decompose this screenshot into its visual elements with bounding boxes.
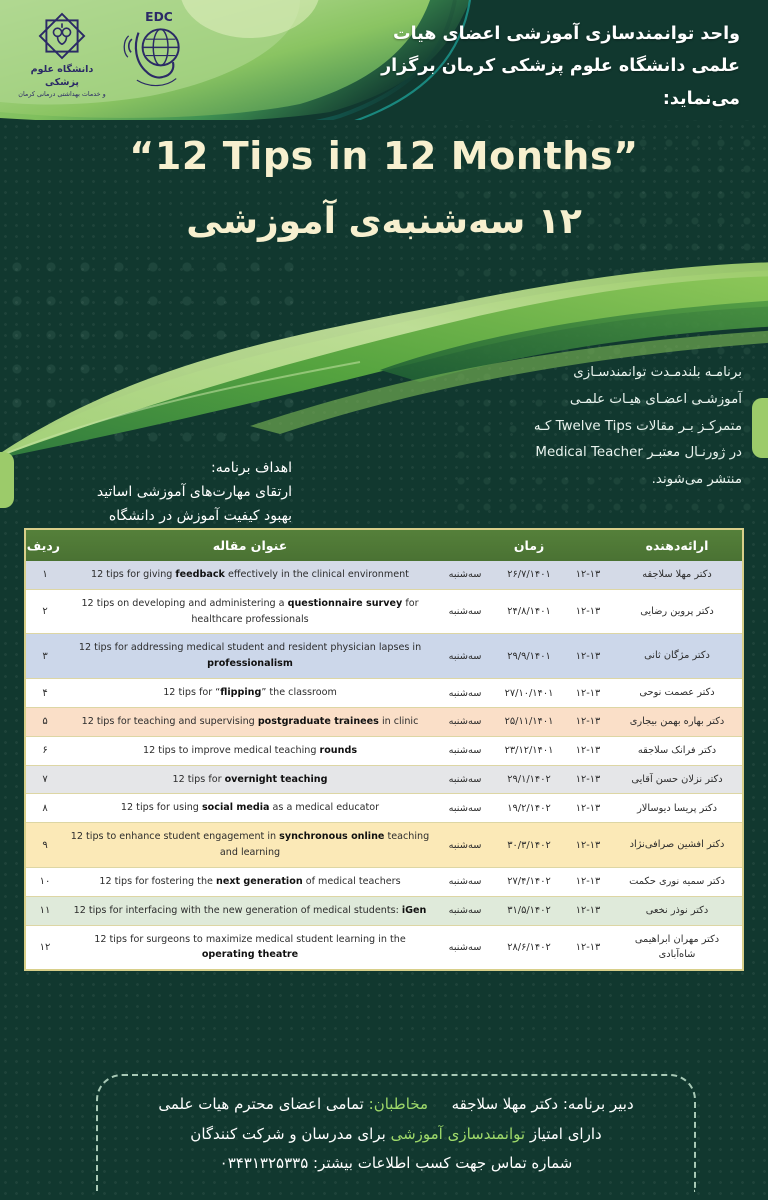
cell-date: ۲۹/۹/۱۴۰۱ (494, 634, 564, 679)
program-description: برنامـه بلندمـدت توانمندسـازی آموزشـی اع… (452, 360, 742, 494)
cell-article-title: 12 tips for fostering the next generatio… (64, 867, 436, 896)
cell-num: ۱ (26, 561, 64, 589)
headline-english: “12 Tips in 12 Months” (0, 136, 768, 178)
cell-article-title: 12 tips to improve medical teaching roun… (64, 736, 436, 765)
cell-time: ۱۲-۱۳ (564, 765, 612, 794)
table-header-row: ارائه‌دهنده زمان عنوان مقاله ردیف (26, 530, 742, 561)
cell-article-title: 12 tips on developing and administering … (64, 589, 436, 634)
cell-article-title: 12 tips for overnight teaching (64, 765, 436, 794)
article-title-keyword: questionnaire survey (288, 598, 403, 609)
university-name: دانشگاه علوم پزشکی (16, 64, 108, 90)
cell-time: ۱۲-۱۳ (564, 589, 612, 634)
cell-date: ۱۹/۲/۱۴۰۲ (494, 794, 564, 823)
header-num: ردیف (26, 530, 64, 561)
table-row: دکتر مژگان ثانی۱۲-۱۳۲۹/۹/۱۴۰۱سه‌شنبه12 t… (26, 634, 742, 679)
cell-presenter: دکتر نزلان حسن آقایی (612, 765, 742, 794)
cell-num: ۴ (26, 679, 64, 708)
cell-presenter: دکتر افشین صرافی‌نژاد (612, 823, 742, 868)
cell-num: ۹ (26, 823, 64, 868)
cell-day: سه‌شنبه (436, 794, 494, 823)
cell-article-title: 12 tips for “flipping” the classroom (64, 679, 436, 708)
cell-time: ۱۲-۱۳ (564, 707, 612, 736)
goals-item-2: بهبود کیفیت آموزش در دانشگاه (22, 504, 292, 528)
cell-num: ۵ (26, 707, 64, 736)
cell-time: ۱۲-۱۳ (564, 925, 612, 969)
table-row: دکتر بهاره بهمن بیجاری۱۲-۱۳۲۵/۱۱/۱۴۰۱سه‌… (26, 707, 742, 736)
credit-prefix: دارای امتیاز (530, 1125, 602, 1143)
cell-num: ۶ (26, 736, 64, 765)
description-line-4-a: در ژورنـال معتبـر (647, 445, 742, 460)
logo-group: EDC (16, 8, 196, 98)
cell-num: ۱۱ (26, 896, 64, 925)
description-line-3: متمرکـز بـر مقالات Twelve Tips کـه (452, 414, 742, 441)
article-title-keyword: flipping (220, 687, 261, 698)
article-title-keyword: rounds (319, 745, 357, 756)
cell-date: ۳۱/۵/۱۴۰۲ (494, 896, 564, 925)
cell-day: سه‌شنبه (436, 823, 494, 868)
cell-date: ۲۷/۴/۱۴۰۲ (494, 867, 564, 896)
description-line-3-a: متمرکـز بـر مقالات (636, 419, 742, 434)
cell-date: ۲۵/۱۱/۱۴۰۱ (494, 707, 564, 736)
cell-article-title: 12 tips for surgeons to maximize medical… (64, 925, 436, 969)
cell-day: سه‌شنبه (436, 679, 494, 708)
cell-date: ۲۹/۱/۱۴۰۲ (494, 765, 564, 794)
cell-date: ۲۷/۱۰/۱۴۰۱ (494, 679, 564, 708)
cell-num: ۷ (26, 765, 64, 794)
article-title-keyword: operating theatre (202, 949, 298, 960)
cell-day: سه‌شنبه (436, 765, 494, 794)
article-title-keyword: iGen (402, 905, 427, 916)
cell-time: ۱۲-۱۳ (564, 823, 612, 868)
cell-num: ۱۰ (26, 867, 64, 896)
schedule-table-container: ارائه‌دهنده زمان عنوان مقاله ردیف دکتر م… (24, 528, 744, 971)
edc-logo: EDC (122, 8, 196, 94)
audience-value: تمامی اعضای محترم هیات علمی (158, 1095, 364, 1113)
article-title-keyword: synchronous online (279, 831, 384, 842)
header-time (564, 530, 612, 561)
article-title-keyword: professionalism (207, 658, 293, 669)
cell-date: ۳۰/۳/۱۴۰۲ (494, 823, 564, 868)
cell-article-title: 12 tips for interfacing with the new gen… (64, 896, 436, 925)
cell-day: سه‌شنبه (436, 925, 494, 969)
table-row: دکتر افشین صرافی‌نژاد۱۲-۱۳۳۰/۳/۱۴۰۲سه‌شن… (26, 823, 742, 868)
poster-root: EDC (0, 0, 768, 1200)
side-tab-left (0, 452, 14, 508)
footer-line-credit: دارای امتیاز توانمندسازی آموزشی برای مدر… (116, 1120, 676, 1149)
cell-article-title: 12 tips to enhance student engagement in… (64, 823, 436, 868)
table-body: دکتر مهلا سلاجقه۱۲-۱۳۲۶/۷/۱۴۰۱سه‌شنبه12 … (26, 561, 742, 969)
headline-block: “12 Tips in 12 Months” ۱۲ سه‌شنبه‌ی آموز… (0, 136, 768, 243)
dot-texture-large-left (0, 250, 300, 450)
cell-presenter: دکتر نوذر نخعی (612, 896, 742, 925)
cell-num: ۳ (26, 634, 64, 679)
description-journal-name: Medical Teacher (535, 445, 643, 460)
footer-line-contact: شماره تماس جهت کسب اطلاعات بیشتر: ۰۳۴۳۱۳… (116, 1149, 676, 1178)
header-title: عنوان مقاله (64, 530, 436, 561)
description-line-3-c: کـه (534, 419, 551, 434)
description-line-1: برنامـه بلندمـدت توانمندسـازی (452, 360, 742, 387)
contact-number: ۰۳۴۳۱۳۲۵۳۳۵ (220, 1154, 309, 1172)
goals-title: اهداف برنامه: (22, 456, 292, 480)
credit-suffix: برای مدرسان و شرکت کنندگان (190, 1125, 386, 1143)
cell-time: ۱۲-۱۳ (564, 679, 612, 708)
header-line-2: علمی دانشگاه علوم پزشکی کرمان برگزار می‌… (320, 50, 740, 115)
cell-article-title: 12 tips for teaching and supervising pos… (64, 707, 436, 736)
article-title-keyword: postgraduate trainees (258, 716, 379, 727)
cell-date: ۲۸/۶/۱۴۰۲ (494, 925, 564, 969)
contact-label: شماره تماس جهت کسب اطلاعات بیشتر: (313, 1154, 572, 1172)
table-row: دکتر مهران ابراهیمی شاه‌آبادی۱۲-۱۳۲۸/۶/۱… (26, 925, 742, 969)
description-line-5: منتشر می‌شوند. (452, 467, 742, 494)
table-row: دکتر مهلا سلاجقه۱۲-۱۳۲۶/۷/۱۴۰۱سه‌شنبه12 … (26, 561, 742, 589)
table-row: دکتر نوذر نخعی۱۲-۱۳۳۱/۵/۱۴۰۲سه‌شنبه12 ti… (26, 896, 742, 925)
header-day (436, 530, 494, 561)
header-announcement: واحد توانمندسازی آموزشی اعضای هیات علمی … (320, 18, 740, 115)
cell-article-title: 12 tips for giving feedback effectively … (64, 561, 436, 589)
cell-presenter: دکتر عصمت نوحی (612, 679, 742, 708)
audience-label: مخاطبان: (369, 1095, 428, 1113)
cell-day: سه‌شنبه (436, 736, 494, 765)
cell-day: سه‌شنبه (436, 896, 494, 925)
description-line-2: آموزشـی اعضـای هیـات علمـی (452, 387, 742, 414)
header-line-1: واحد توانمندسازی آموزشی اعضای هیات (320, 18, 740, 50)
cell-day: سه‌شنبه (436, 589, 494, 634)
table-row: دکتر پریسا دیوسالار۱۲-۱۳۱۹/۲/۱۴۰۲سه‌شنبه… (26, 794, 742, 823)
description-line-4: در ژورنـال معتبـر Medical Teacher (452, 440, 742, 467)
cell-time: ۱۲-۱۳ (564, 736, 612, 765)
footer-info-box: دبیر برنامه: دکتر مهلا سلاجقه مخاطبان: ت… (96, 1074, 696, 1192)
program-goals: اهداف برنامه: ارتقای مهارت‌های آموزشی اس… (22, 456, 292, 528)
svg-text:EDC: EDC (145, 10, 173, 24)
cell-day: سه‌شنبه (436, 867, 494, 896)
cell-day: سه‌شنبه (436, 561, 494, 589)
schedule-table: ارائه‌دهنده زمان عنوان مقاله ردیف دکتر م… (26, 530, 742, 969)
cell-presenter: دکتر پریسا دیوسالار (612, 794, 742, 823)
cell-article-title: 12 tips for using social media as a medi… (64, 794, 436, 823)
cell-num: ۱۲ (26, 925, 64, 969)
cell-time: ۱۲-۱۳ (564, 794, 612, 823)
cell-presenter: دکتر فرانک سلاجقه (612, 736, 742, 765)
table-row: دکتر نزلان حسن آقایی۱۲-۱۳۲۹/۱/۱۴۰۲سه‌شنب… (26, 765, 742, 794)
cell-num: ۲ (26, 589, 64, 634)
goals-item-1: ارتقای مهارت‌های آموزشی اساتید (22, 480, 292, 504)
cell-day: سه‌شنبه (436, 707, 494, 736)
side-tab-right (752, 398, 768, 458)
university-subtitle: و خدمات بهداشتی درمانی کرمان (16, 90, 108, 98)
cell-date: ۲۳/۱۲/۱۴۰۱ (494, 736, 564, 765)
header-presenter: ارائه‌دهنده (612, 530, 742, 561)
cell-date: ۲۶/۷/۱۴۰۱ (494, 561, 564, 589)
table-row: دکتر عصمت نوحی۱۲-۱۳۲۷/۱۰/۱۴۰۱سه‌شنبه12 t… (26, 679, 742, 708)
secretary-label: دبیر برنامه: (563, 1095, 634, 1113)
cell-presenter: دکتر پروین رضایی (612, 589, 742, 634)
cell-time: ۱۲-۱۳ (564, 867, 612, 896)
table-row: دکتر فرانک سلاجقه۱۲-۱۳۲۳/۱۲/۱۴۰۱سه‌شنبه1… (26, 736, 742, 765)
cell-presenter: دکتر مهران ابراهیمی شاه‌آبادی (612, 925, 742, 969)
secretary-value: دکتر مهلا سلاجقه (452, 1095, 558, 1113)
article-title-keyword: overnight teaching (225, 774, 328, 785)
cell-time: ۱۲-۱۳ (564, 561, 612, 589)
headline-persian: ۱۲ سه‌شنبه‌ی آموزشی (0, 200, 768, 243)
cell-presenter: دکتر مژگان ثانی (612, 634, 742, 679)
university-logo: دانشگاه علوم پزشکی و خدمات بهداشتی درمان… (16, 8, 108, 98)
cell-presenter: دکتر بهاره بهمن بیجاری (612, 707, 742, 736)
cell-num: ۸ (26, 794, 64, 823)
cell-presenter: دکتر مهلا سلاجقه (612, 561, 742, 589)
header-date: زمان (494, 530, 564, 561)
cell-date: ۲۴/۸/۱۴۰۱ (494, 589, 564, 634)
article-title-keyword: social media (202, 802, 270, 813)
table-row: دکتر پروین رضایی۱۲-۱۳۲۴/۸/۱۴۰۱سه‌شنبه12 … (26, 589, 742, 634)
table-row: دکتر سمیه نوری حکمت۱۲-۱۳۲۷/۴/۱۴۰۲سه‌شنبه… (26, 867, 742, 896)
cell-day: سه‌شنبه (436, 634, 494, 679)
table-head: ارائه‌دهنده زمان عنوان مقاله ردیف (26, 530, 742, 561)
credit-highlight: توانمندسازی آموزشی (391, 1125, 526, 1143)
footer-line-secretary-audience: دبیر برنامه: دکتر مهلا سلاجقه مخاطبان: ت… (116, 1090, 676, 1119)
article-title-keyword: feedback (175, 569, 224, 580)
article-title-keyword: next generation (216, 876, 303, 887)
cell-time: ۱۲-۱۳ (564, 634, 612, 679)
cell-presenter: دکتر سمیه نوری حکمت (612, 867, 742, 896)
cell-time: ۱۲-۱۳ (564, 896, 612, 925)
description-journal-article-type: Twelve Tips (556, 419, 632, 434)
cell-article-title: 12 tips for addressing medical student a… (64, 634, 436, 679)
